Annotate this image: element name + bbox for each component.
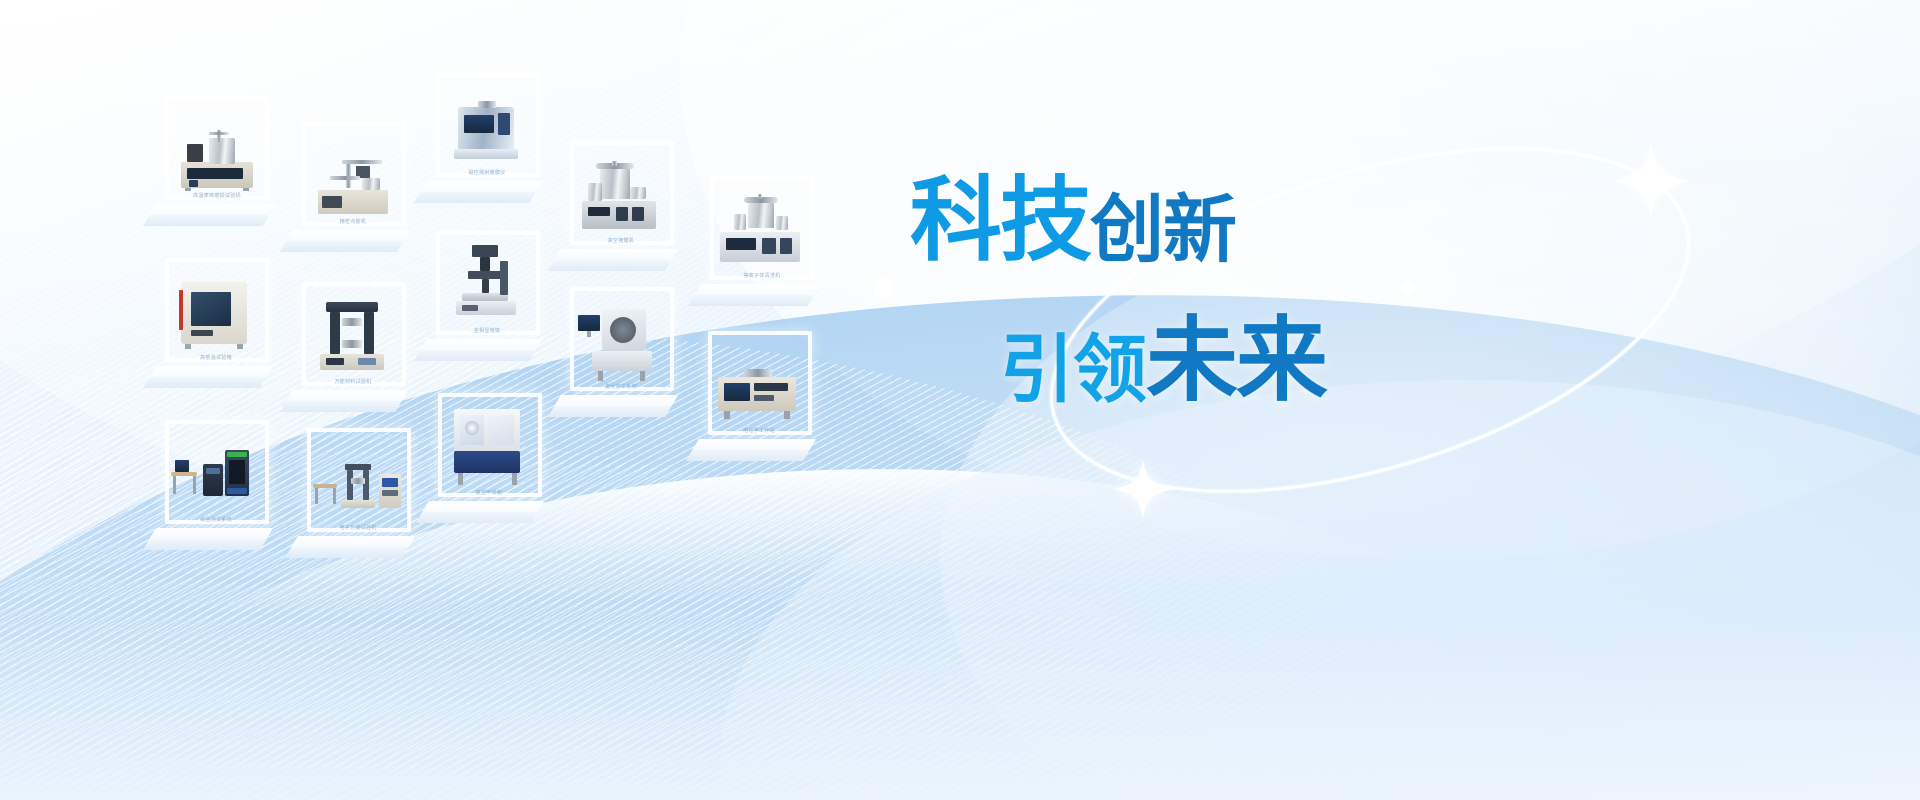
headline-line-1: 科技创新	[910, 175, 1236, 267]
product-caption: 高低温试验箱	[163, 354, 269, 361]
sparkle-star-bottom-icon	[1112, 458, 1174, 520]
product-image-p2	[312, 152, 398, 216]
product-caption: 金相显微镜	[434, 327, 540, 334]
product-caption: 磁控溅射镀膜仪	[434, 169, 540, 176]
product-caption: 精密点胶机	[300, 218, 406, 225]
headline-line1-secondary: 创新	[1090, 187, 1236, 273]
product-image-p3	[448, 99, 528, 165]
product-pedestal	[416, 501, 544, 523]
product-image-p13	[448, 407, 532, 489]
headline-line2-secondary: 未来	[1146, 307, 1326, 414]
bg-bottom-fade	[0, 620, 1920, 800]
product-image-p1	[173, 128, 261, 190]
product-image-p12	[311, 458, 405, 522]
product-image-p9	[576, 307, 664, 383]
headline-line-2: 引领未来	[1000, 315, 1326, 407]
product-card-p13[interactable]: 真空干燥箱	[416, 393, 586, 553]
product-image-p11	[169, 444, 263, 514]
sparkle-star-top-right-icon	[1612, 142, 1690, 220]
product-pedestal	[414, 181, 542, 203]
headline-line1-primary: 科技	[910, 167, 1090, 274]
product-pedestal	[285, 536, 415, 558]
product-caption: 万能材料试验机	[300, 378, 406, 385]
product-caption: 高温摩擦磨损试验机	[163, 192, 271, 199]
product-image-p10	[714, 359, 802, 423]
product-image-p7	[314, 300, 394, 378]
product-pedestal	[143, 204, 276, 226]
product-caption: 真空干燥箱	[436, 489, 542, 496]
product-pedestal	[143, 366, 273, 388]
product-pedestal	[686, 439, 816, 461]
headline-block: 科技创新 引领未来	[905, 175, 1425, 435]
product-pedestal	[280, 390, 408, 412]
headline-line2-primary: 引领	[1000, 327, 1146, 413]
product-caption: 电化学工作站	[706, 427, 812, 434]
product-caption: 综合测试系统	[163, 516, 269, 523]
product-image-p8	[450, 245, 526, 327]
product-pedestal	[280, 230, 410, 252]
product-pedestal	[143, 528, 273, 550]
product-image-p6	[175, 278, 259, 352]
bg-wave-bottom-right	[720, 380, 1920, 800]
product-image-p5	[716, 194, 806, 270]
product-caption: 等离子体清洗机	[708, 272, 816, 279]
product-caption: 激光加工系统	[568, 383, 674, 390]
product-caption: 电子万能试验机	[305, 524, 411, 531]
product-image-p4	[576, 161, 666, 235]
hero-banner: 高温摩擦磨损试验机 精密点胶机 磁控溅射镀膜仪	[0, 0, 1920, 800]
product-card-p10[interactable]: 电化学工作站	[686, 331, 856, 491]
product-pedestal	[414, 339, 542, 361]
